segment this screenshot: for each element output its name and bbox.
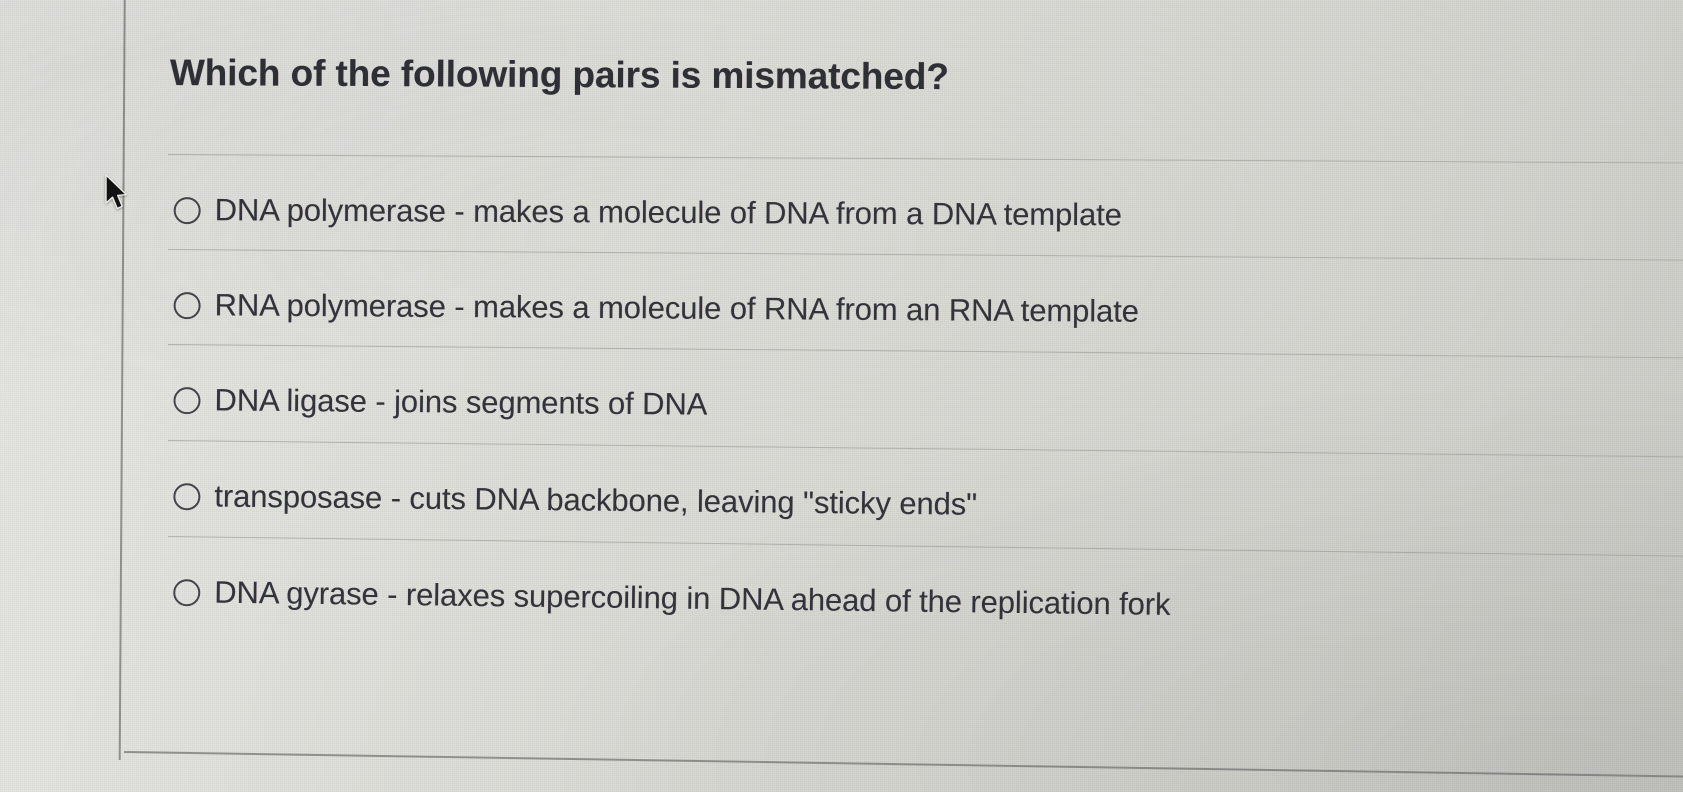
screenshot-canvas: Which of the following pairs is mismatch… — [0, 0, 1683, 792]
answer-options-list: DNA polymerase - makes a molecule of DNA… — [0, 0, 1683, 792]
answer-option-dna-ligase[interactable]: DNA ligase - joins segments of DNA — [167, 344, 1683, 452]
option-content: DNA ligase - joins segments of DNA — [173, 382, 707, 423]
option-content: DNA gyrase - relaxes supercoiling in DNA… — [173, 574, 1171, 623]
radio-button-icon[interactable] — [173, 483, 200, 510]
radio-button-icon[interactable] — [174, 197, 201, 224]
option-content: transposase - cuts DNA backbone, leaving… — [173, 478, 977, 523]
option-label: DNA ligase - joins segments of DNA — [214, 382, 707, 422]
option-label: transposase - cuts DNA backbone, leaving… — [214, 479, 977, 523]
answer-option-transposase[interactable]: transposase - cuts DNA backbone, leaving… — [167, 440, 1683, 551]
answer-option-dna-polymerase[interactable]: DNA polymerase - makes a molecule of DNA… — [167, 154, 1683, 257]
radio-button-icon[interactable] — [173, 579, 200, 606]
option-label: DNA polymerase - makes a molecule of DNA… — [215, 192, 1122, 233]
radio-button-icon[interactable] — [173, 387, 200, 414]
answer-option-rna-polymerase[interactable]: RNA polymerase - makes a molecule of RNA… — [167, 249, 1683, 355]
option-content: RNA polymerase - makes a molecule of RNA… — [173, 287, 1138, 330]
option-divider — [168, 154, 1683, 163]
radio-button-icon[interactable] — [174, 292, 201, 319]
option-label: DNA gyrase - relaxes supercoiling in DNA… — [214, 575, 1171, 623]
option-content: DNA polymerase - makes a molecule of DNA… — [174, 192, 1122, 233]
answer-option-dna-gyrase[interactable]: DNA gyrase - relaxes supercoiling in DNA… — [167, 536, 1683, 651]
option-label: RNA polymerase - makes a molecule of RNA… — [214, 287, 1138, 329]
